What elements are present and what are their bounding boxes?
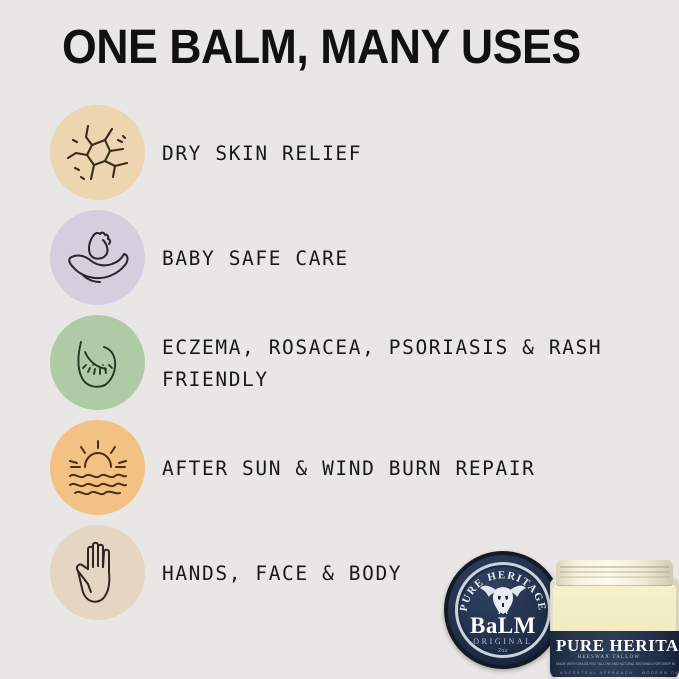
tin-size-label: 2oz [448,648,558,654]
product-tin: PURE HERITAGE BaLM ORIGINAL [444,551,562,669]
benefit-row-baby-safe-care: BABY SAFE CARE [0,210,679,315]
product-jar: PURE HERITAG BEESWAX TALLOW MADE WITH GR… [550,560,679,679]
benefit-label: ECZEMA, ROSACEA, PSORIASIS & RASH FRIEND… [162,332,662,396]
jar-neck [556,560,673,586]
benefit-label: AFTER SUN & WIND BURN REPAIR [162,453,662,485]
benefit-row-dry-skin-relief: DRY SKIN RELIEF [0,105,679,210]
jar-footer-text: ANCESTRAL APPROACH · MODERN CARE [560,671,679,675]
benefit-label: BABY SAFE CARE [162,243,662,275]
irritated-elbow-skin-icon [63,330,133,396]
benefit-icon-badge [50,105,145,200]
benefit-icon-badge [50,420,145,515]
jar-label: PURE HERITAG BEESWAX TALLOW MADE WITH GR… [550,631,679,677]
sun-over-water-icon [63,436,133,500]
benefit-icon-badge [50,525,145,620]
benefit-icon-badge [50,315,145,410]
jar-subtitle: BEESWAX TALLOW [578,655,640,660]
open-hand-palm-icon [69,538,127,608]
page-title: ONE BALM, MANY USES [62,20,581,75]
benefit-row-eczema-friendly: ECZEMA, ROSACEA, PSORIASIS & RASH FRIEND… [0,315,679,420]
product-images: PURE HERITAGE BaLM ORIGINAL [444,551,679,679]
tin-subtitle: ORIGINAL [448,637,558,646]
hand-holding-baby-foot-icon [62,227,134,289]
jar-fine-print: MADE WITH GRASS-FED TALLOW AND NATURAL B… [556,662,675,666]
jar-title: PURE HERITAG [556,636,679,656]
tin-brand-name: BaLM [448,614,558,637]
jar-glass-body: PURE HERITAG BEESWAX TALLOW MADE WITH GR… [550,578,679,679]
benefit-label: DRY SKIN RELIEF [162,138,662,170]
benefit-row-after-sun-repair: AFTER SUN & WIND BURN REPAIR [0,420,679,525]
benefit-icon-badge [50,210,145,305]
cracked-dry-skin-icon [63,120,133,186]
